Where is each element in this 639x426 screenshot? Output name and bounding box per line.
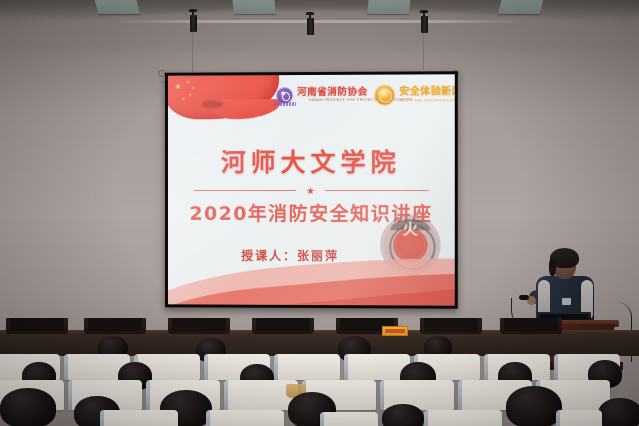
flag-star-icon: [187, 81, 190, 84]
audience-head: [382, 404, 424, 426]
presenter-hair-side: [549, 258, 556, 276]
audience-seating: [0, 318, 639, 426]
lecture-hall-photo: 河南省消防协会 HENAN PROVINCE FIRE PROTECTION A…: [0, 0, 639, 426]
bench-chair: [168, 318, 230, 334]
spotlight-icon: [420, 10, 428, 33]
spotlight-icon: [189, 9, 197, 32]
association-name-en: HENAN PROVINCE FIRE PROTECTION ASSOCIATI…: [309, 98, 412, 102]
audience-head: [0, 388, 56, 426]
flag-star-icon: [192, 87, 195, 90]
safety-seal-name: 安全体验新闻: [399, 86, 455, 97]
bench-chair: [6, 318, 68, 334]
bench-chair: [420, 318, 482, 334]
audience-seat: [556, 410, 602, 426]
emblem-glyph: 火: [380, 222, 440, 236]
ceiling-rail: [120, 20, 520, 23]
presenter-badge: [562, 298, 571, 305]
henan-fire-association-logo-icon: [277, 88, 292, 103]
ceiling-light-panel: [498, 0, 544, 14]
logo-underline: [274, 102, 296, 106]
audience-head: [598, 398, 639, 426]
safety-seal-name-en: SAFETY AND EDUCATION EXPERIENCE NEWS: [399, 98, 455, 102]
bench-chair: [252, 318, 314, 334]
divider-star-icon: [307, 187, 315, 195]
bench-row: [0, 334, 639, 356]
flag-star-icon: [189, 93, 192, 96]
audience-seat: [100, 410, 178, 426]
presentation-slide: 河南省消防协会 HENAN PROVINCE FIRE PROTECTION A…: [168, 74, 455, 305]
bench-chair: [84, 318, 146, 334]
association-name: 河南省消防协会: [297, 87, 368, 98]
audience-seat: [424, 410, 502, 426]
safety-seal-logo-icon: [375, 86, 394, 105]
flag-star-icon: [175, 84, 181, 90]
slide-title: 河师大文学院: [168, 143, 455, 179]
audience-seat: [206, 410, 284, 426]
slide-header-logos: 河南省消防协会 HENAN PROVINCE FIRE PROTECTION A…: [277, 86, 448, 107]
chinese-flag-icon: [168, 75, 279, 119]
bench-chair: [500, 318, 562, 334]
audience-seat: [274, 354, 340, 380]
audience-seat: [320, 412, 378, 426]
flag-star-icon: [182, 97, 185, 100]
projection-screen: 河南省消防协会 HENAN PROVINCE FIRE PROTECTION A…: [165, 71, 458, 308]
audience-head: [506, 386, 562, 426]
screen-hook-icon: [158, 70, 165, 77]
ceiling-light-panel: [367, 0, 410, 14]
ceiling-light-panel: [94, 0, 140, 14]
spotlight-icon: [306, 12, 314, 35]
desk-nameplate: [382, 326, 408, 336]
slide-divider: [194, 185, 429, 197]
ceiling-light-panel: [232, 0, 276, 14]
